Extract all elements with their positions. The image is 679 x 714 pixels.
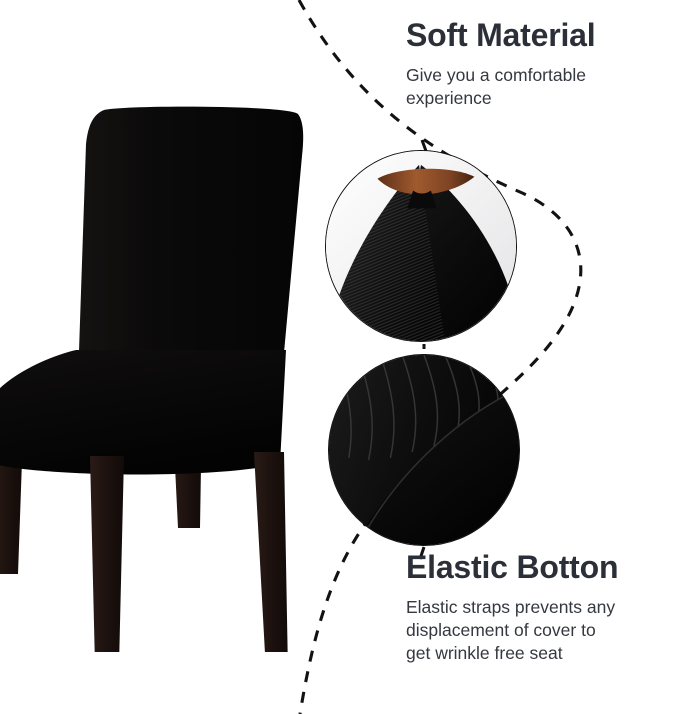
chair-seat-cover [0, 350, 286, 475]
soft-material-body-line-1: Give you a comfortable [406, 64, 674, 87]
infographic-canvas: Soft Material Give you a comfortable exp… [0, 0, 679, 714]
chair-leg-front-right [254, 452, 288, 652]
feature-elastic-botton: Elastic Botton Elastic straps prevents a… [406, 549, 674, 665]
soft-material-body-line-2: experience [406, 87, 674, 110]
soft-material-body: Give you a comfortable experience [406, 64, 674, 110]
chair-leg-front-left [90, 456, 124, 652]
soft-material-headline: Soft Material [406, 17, 674, 55]
elastic-band-image [329, 355, 519, 545]
callout-fabric-texture [325, 150, 517, 342]
elastic-botton-body-line-1: Elastic straps prevents any [406, 596, 674, 619]
callout-elastic-band [328, 354, 520, 546]
feature-soft-material: Soft Material Give you a comfortable exp… [406, 17, 674, 110]
elastic-botton-body-line-3: get wrinkle free seat [406, 642, 674, 665]
chair-svg [0, 104, 330, 652]
elastic-botton-headline: Elastic Botton [406, 549, 674, 587]
chair-illustration [0, 104, 330, 652]
fabric-texture-image [326, 151, 516, 341]
elastic-botton-body: Elastic straps prevents any displacement… [406, 596, 674, 665]
elastic-botton-body-line-2: displacement of cover to [406, 619, 674, 642]
